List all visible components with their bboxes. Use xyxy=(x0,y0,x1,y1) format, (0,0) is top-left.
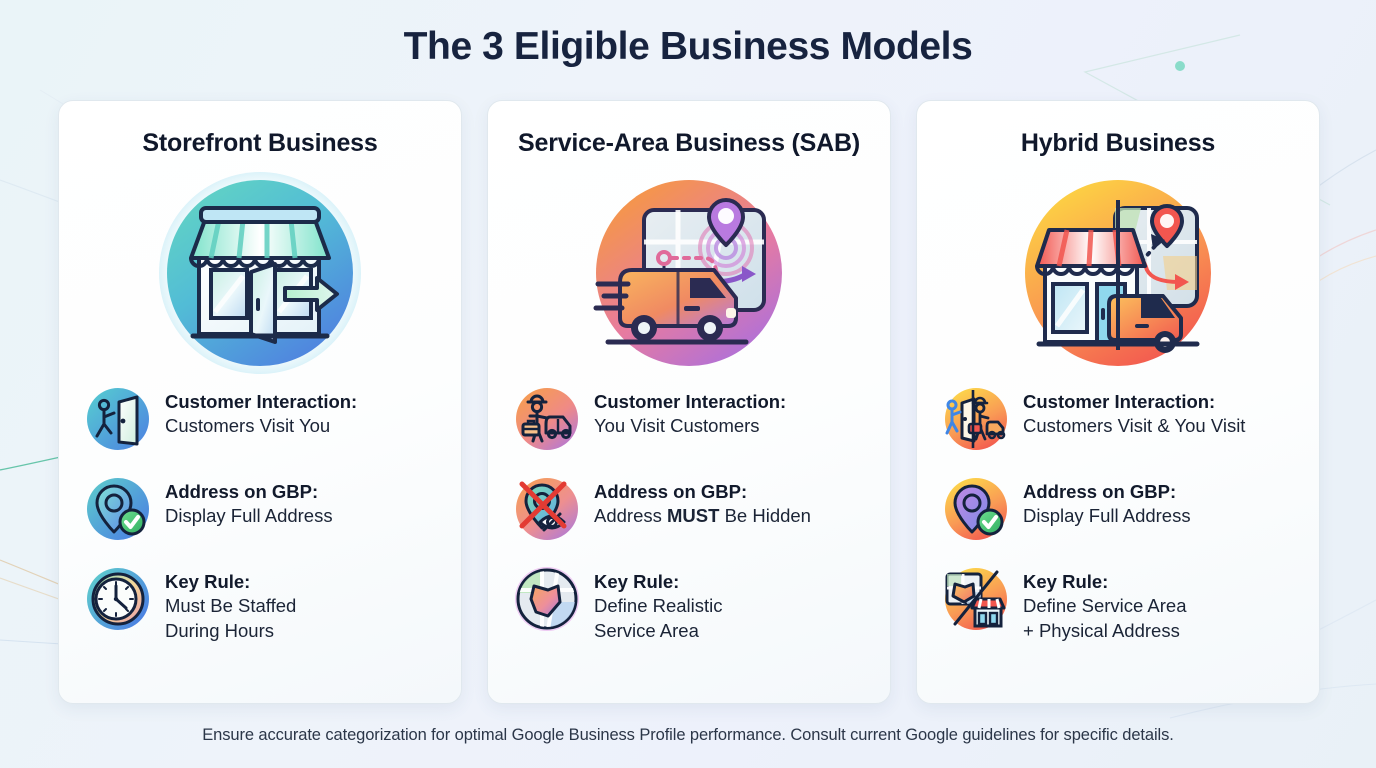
feature-value-address-must-be-hidden: Address MUST Be Hidden xyxy=(594,504,811,528)
infographic-canvas: The 3 Eligible Business Models Storefron… xyxy=(0,0,1376,768)
person-entering-door-icon xyxy=(85,386,151,452)
hero-illustration-hybrid xyxy=(943,165,1293,380)
feature-value: Define Realistic Service Area xyxy=(594,594,723,643)
feature-customer-interaction: Customer Interaction: Customers Visit Yo… xyxy=(85,384,435,458)
service-area-polygon-map-icon xyxy=(514,566,580,632)
feature-label: Address on GBP: xyxy=(1023,481,1176,502)
map-pin-check-icon xyxy=(943,476,1009,542)
feature-value: Must Be Staffed During Hours xyxy=(165,594,296,643)
card-title-hybrid: Hybrid Business xyxy=(943,129,1293,163)
feature-customer-interaction: Customer Interaction: Customers Visit & … xyxy=(943,384,1293,458)
person-entering-door-and-worker-van-split-icon xyxy=(943,386,1009,452)
feature-address-on-gbp: Address on GBP: Address MUST Be Hidden xyxy=(514,474,864,548)
page-title: The 3 Eligible Business Models xyxy=(0,26,1376,69)
business-model-cards: Storefront Business xyxy=(58,100,1320,704)
feature-label: Customer Interaction: xyxy=(594,391,786,412)
feature-list-hybrid: Customer Interaction: Customers Visit & … xyxy=(943,384,1293,643)
clock-icon xyxy=(85,566,151,632)
feature-customer-interaction: Customer Interaction: You Visit Customer… xyxy=(514,384,864,458)
feature-list-sab: Customer Interaction: You Visit Customer… xyxy=(514,384,864,643)
feature-address-on-gbp: Address on GBP: Display Full Address xyxy=(943,474,1293,548)
feature-label: Key Rule: xyxy=(165,571,250,592)
card-storefront-business[interactable]: Storefront Business xyxy=(58,100,462,704)
card-service-area-business[interactable]: Service-Area Business (SAB) xyxy=(487,100,891,704)
feature-value: Customers Visit & You Visit xyxy=(1023,414,1245,438)
feature-value: You Visit Customers xyxy=(594,414,786,438)
feature-value: Define Service Area + Physical Address xyxy=(1023,594,1187,643)
service-area-map-and-storefront-split-icon xyxy=(943,566,1009,632)
hero-illustration-sab xyxy=(514,165,864,380)
map-pin-hidden-crossed-out-icon xyxy=(514,476,580,542)
storefront-plus-van-map-icon xyxy=(1015,170,1221,376)
map-pin-check-icon xyxy=(85,476,151,542)
feature-key-rule: Key Rule: Define Realistic Service Area xyxy=(514,564,864,643)
feature-value: Display Full Address xyxy=(165,504,333,528)
feature-value: Display Full Address xyxy=(1023,504,1191,528)
card-title-storefront: Storefront Business xyxy=(85,129,435,163)
hero-illustration-storefront xyxy=(85,165,435,380)
footer-note: Ensure accurate categorization for optim… xyxy=(0,726,1376,745)
feature-value: Customers Visit You xyxy=(165,414,357,438)
feature-label: Customer Interaction: xyxy=(1023,391,1215,412)
feature-label: Customer Interaction: xyxy=(165,391,357,412)
delivery-van-with-map-route-icon xyxy=(586,170,792,376)
storefront-with-entry-arrow-icon xyxy=(157,170,363,376)
feature-list-storefront: Customer Interaction: Customers Visit Yo… xyxy=(85,384,435,643)
feature-address-on-gbp: Address on GBP: Display Full Address xyxy=(85,474,435,548)
card-title-sab: Service-Area Business (SAB) xyxy=(514,129,864,163)
feature-label: Address on GBP: xyxy=(594,481,747,502)
feature-label: Key Rule: xyxy=(594,571,679,592)
feature-key-rule: Key Rule: Must Be Staffed During Hours xyxy=(85,564,435,643)
worker-with-toolbox-and-van-icon xyxy=(514,386,580,452)
feature-label: Key Rule: xyxy=(1023,571,1108,592)
card-hybrid-business[interactable]: Hybrid Business xyxy=(916,100,1320,704)
feature-key-rule: Key Rule: Define Service Area + Physical… xyxy=(943,564,1293,643)
feature-label: Address on GBP: xyxy=(165,481,318,502)
